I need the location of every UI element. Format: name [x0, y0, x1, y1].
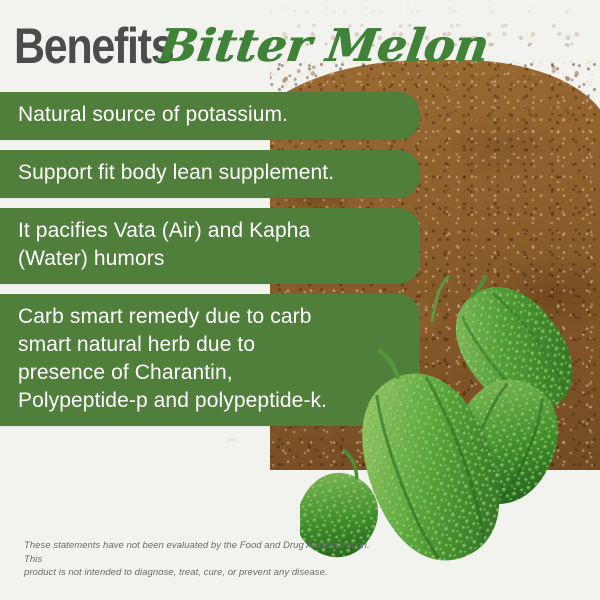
benefit-line: It pacifies Vata (Air) and Kapha [18, 217, 394, 245]
disclaimer-line-2: product is not intended to diagnose, tre… [24, 566, 384, 580]
melon-stem [432, 277, 448, 321]
bitter-melon-produce-image [300, 275, 600, 575]
disclaimer-line-1: These statements have not been evaluated… [24, 539, 384, 566]
fda-disclaimer: These statements have not been evaluated… [24, 539, 384, 580]
page-title: BenefitsBitter Melon [14, 18, 434, 82]
benefit-line: Support fit body lean supplement. [18, 159, 394, 187]
benefit-banner-vata-kapha: It pacifies Vata (Air) and Kapha (Water)… [0, 208, 420, 284]
title-benefits-text: Benefits [14, 18, 173, 74]
benefit-line: (Water) humors [18, 245, 394, 273]
benefit-banner-potassium: Natural source of potassium. [0, 92, 420, 140]
benefit-line: Natural source of potassium. [18, 101, 394, 129]
benefits-poster: BenefitsBitter Melon Natural source of p… [0, 0, 600, 600]
benefit-banner-lean-supplement: Support fit body lean supplement. [0, 150, 420, 198]
title-bitter-melon-script: Bitter Melon [155, 18, 492, 74]
